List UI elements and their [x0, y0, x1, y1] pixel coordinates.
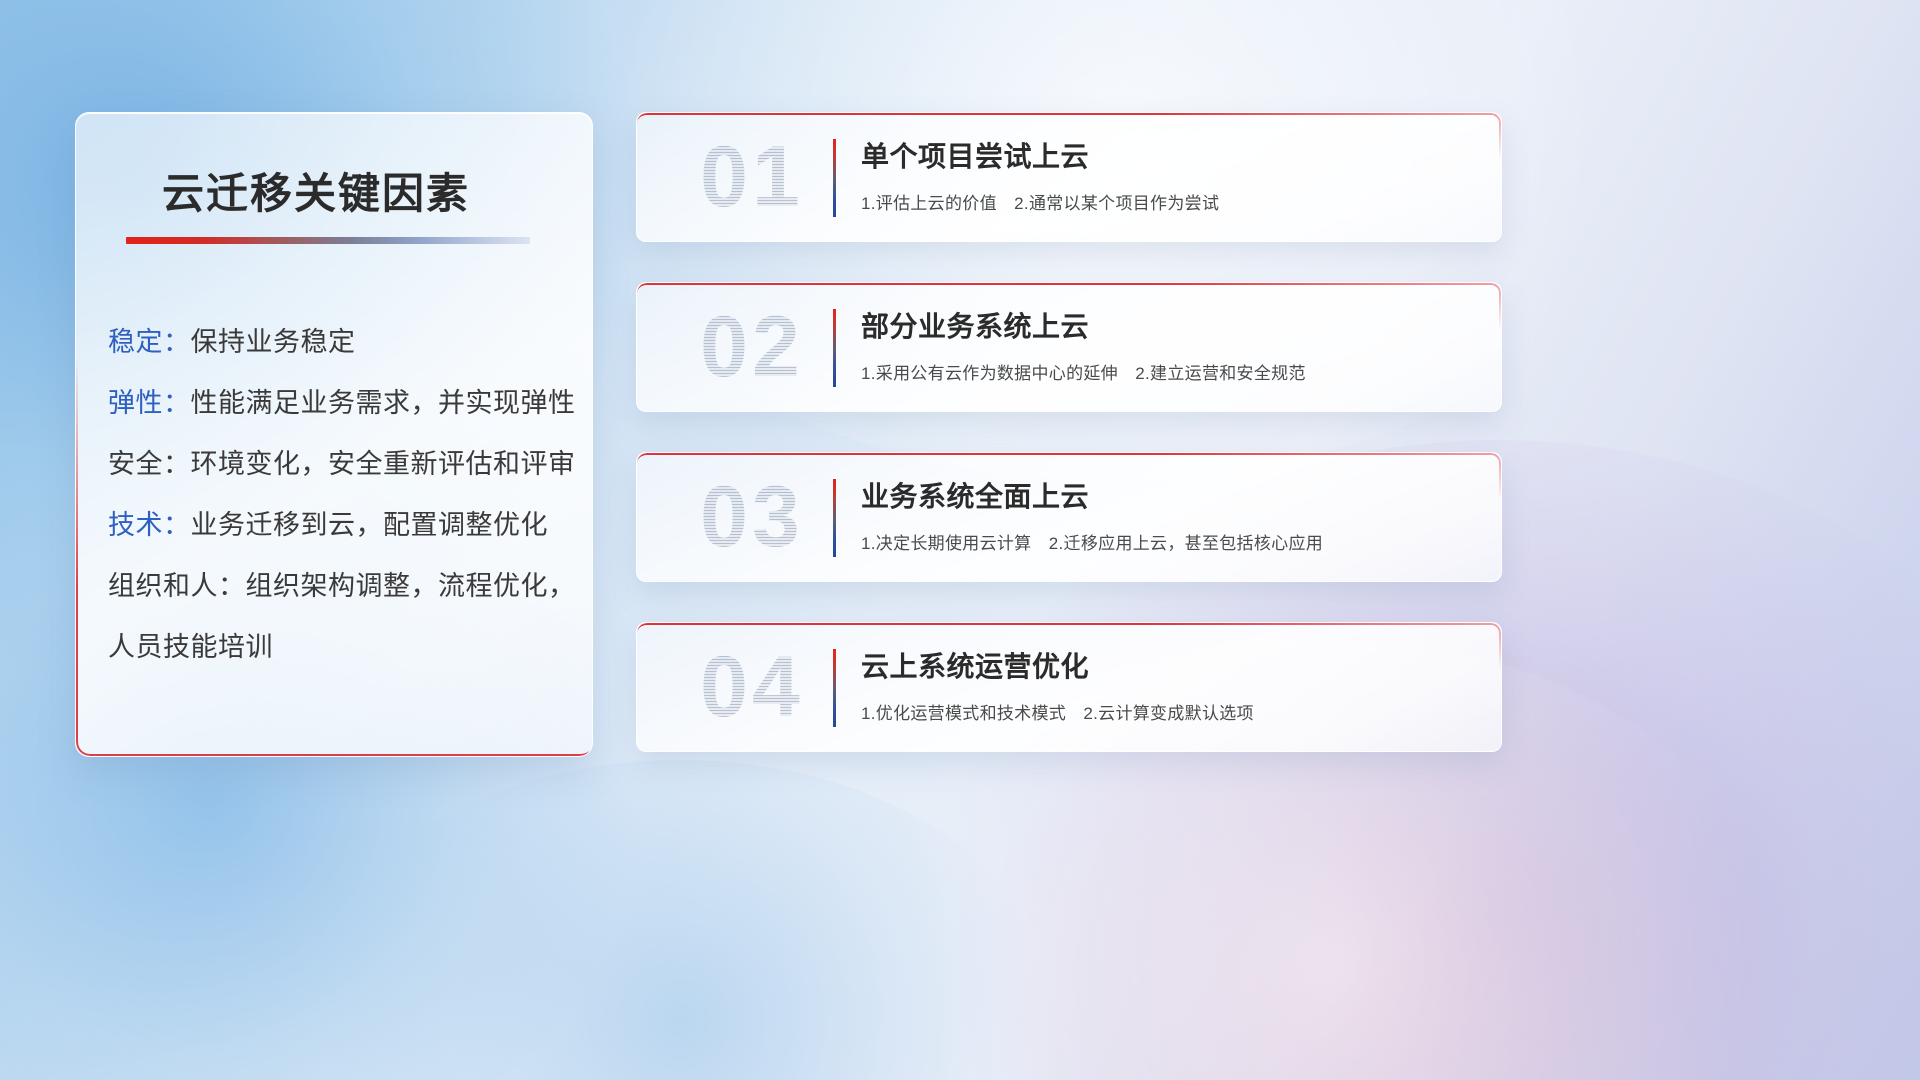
step-number: 04: [657, 644, 847, 730]
step-card-03[interactable]: 0303业务系统全面上云1.决定长期使用云计算 2.迁移应用上云，甚至包括核心应…: [636, 452, 1502, 582]
step-body: 单个项目尝试上云1.评估上云的价值 2.通常以某个项目作为尝试: [861, 135, 1483, 214]
key-factor-text: 保持业务稳定: [191, 320, 356, 359]
cloud-migration-steps-list: 0101单个项目尝试上云1.评估上云的价值 2.通常以某个项目作为尝试0202部…: [636, 112, 1502, 792]
step-divider-bar: [833, 649, 836, 727]
key-factors-list: 稳定：保持业务稳定弹性：性能满足业务需求，并实现弹性安全：环境变化，安全重新评估…: [108, 309, 572, 675]
key-factor-row: 组织和人：组织架构调整，流程优化，: [108, 553, 572, 614]
step-title: 云上系统运营优化: [861, 645, 1483, 685]
step-divider-bar: [833, 309, 836, 387]
step-description: 1.评估上云的价值 2.通常以某个项目作为尝试: [861, 189, 1483, 214]
key-factor-text: 组织架构调整，流程优化，: [246, 564, 576, 603]
step-body: 云上系统运营优化1.优化运营模式和技术模式 2.云计算变成默认选项: [861, 645, 1483, 724]
step-number: 01: [657, 134, 847, 220]
key-factor-text: 人员技能培训: [108, 625, 273, 664]
step-divider-bar: [833, 479, 836, 557]
key-factor-label: 组织和人：: [108, 564, 246, 603]
key-factor-text: 业务迁移到云，配置调整优化: [191, 503, 549, 542]
key-factor-row: 人员技能培训: [108, 614, 572, 675]
step-title: 业务系统全面上云: [861, 475, 1483, 515]
step-title: 单个项目尝试上云: [861, 135, 1483, 175]
step-description: 1.决定长期使用云计算 2.迁移应用上云，甚至包括核心应用: [861, 529, 1483, 554]
step-number: 03: [657, 474, 847, 560]
step-number: 02: [657, 304, 847, 390]
step-description: 1.采用公有云作为数据中心的延伸 2.建立运营和安全规范: [861, 359, 1483, 384]
step-body: 业务系统全面上云1.决定长期使用云计算 2.迁移应用上云，甚至包括核心应用: [861, 475, 1483, 554]
step-card-04[interactable]: 0404云上系统运营优化1.优化运营模式和技术模式 2.云计算变成默认选项: [636, 622, 1502, 752]
key-factor-row: 稳定：保持业务稳定: [108, 309, 572, 370]
key-factor-label: 技术：: [108, 503, 191, 542]
key-factor-row: 弹性：性能满足业务需求，并实现弹性: [108, 370, 572, 431]
slide-stage: 云迁移关键因素 稳定：保持业务稳定弹性：性能满足业务需求，并实现弹性安全：环境变…: [0, 0, 1920, 1080]
key-factor-row: 安全：环境变化，安全重新评估和评审: [108, 431, 572, 492]
step-body: 部分业务系统上云1.采用公有云作为数据中心的延伸 2.建立运营和安全规范: [861, 305, 1483, 384]
key-factor-label: 稳定：: [108, 320, 191, 359]
key-factor-label: 弹性：: [108, 381, 191, 420]
step-card-02[interactable]: 0202部分业务系统上云1.采用公有云作为数据中心的延伸 2.建立运营和安全规范: [636, 282, 1502, 412]
key-factor-text: 环境变化，安全重新评估和评审: [191, 442, 576, 481]
step-card-01[interactable]: 0101单个项目尝试上云1.评估上云的价值 2.通常以某个项目作为尝试: [636, 112, 1502, 242]
title-underline-rule: [126, 237, 530, 244]
key-factor-row: 技术：业务迁移到云，配置调整优化: [108, 492, 572, 553]
key-factor-text: 性能满足业务需求，并实现弹性: [191, 381, 576, 420]
step-description: 1.优化运营模式和技术模式 2.云计算变成默认选项: [861, 699, 1483, 724]
page-title: 云迁移关键因素: [162, 160, 470, 221]
step-title: 部分业务系统上云: [861, 305, 1483, 345]
key-factors-card: 云迁移关键因素 稳定：保持业务稳定弹性：性能满足业务需求，并实现弹性安全：环境变…: [75, 112, 593, 757]
step-divider-bar: [833, 139, 836, 217]
key-factor-label: 安全：: [108, 442, 191, 481]
